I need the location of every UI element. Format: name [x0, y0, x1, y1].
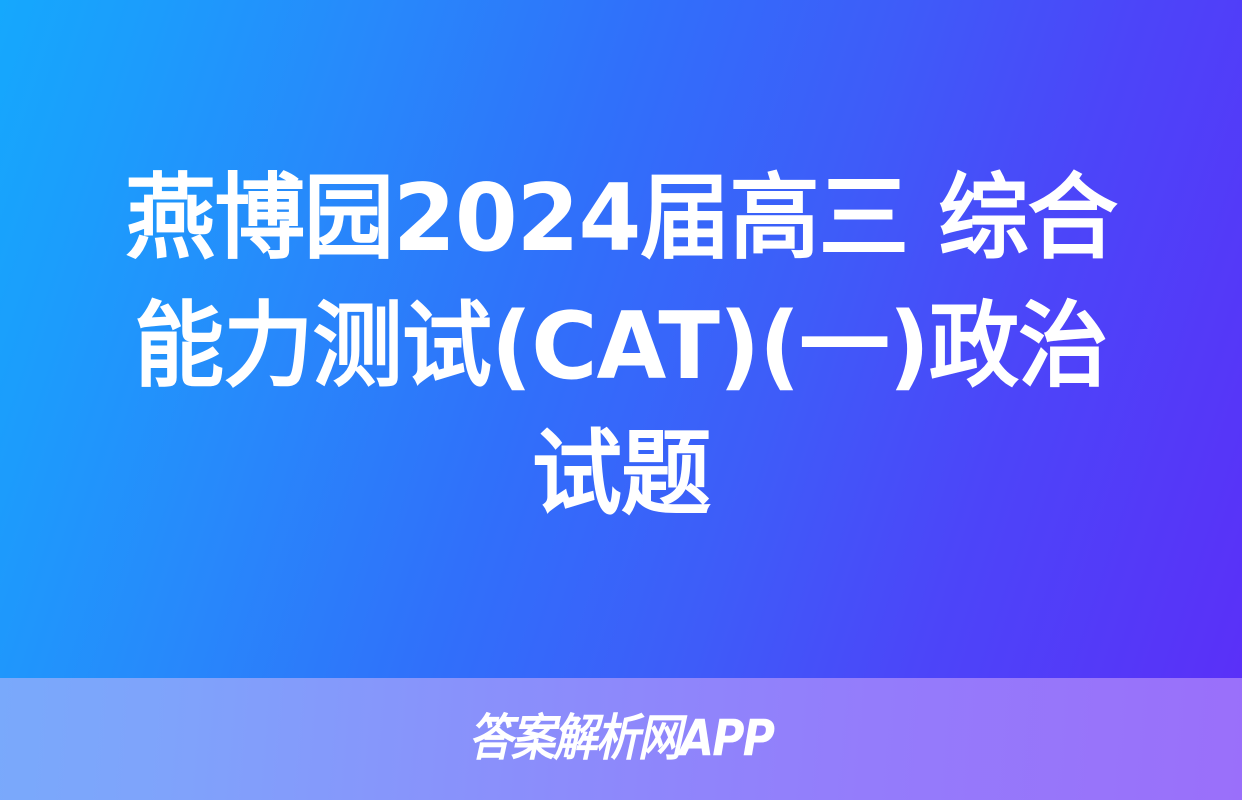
title-line-3: 试题 [532, 410, 710, 538]
footer-brand-band: 答案解析网APP [0, 678, 1242, 800]
page-title: 燕博园2024届高三 综合 能力测试(CAT)(一)政治 试题 [0, 0, 1242, 678]
brand-watermark-label: 答案解析网APP [469, 710, 773, 768]
title-line-1: 燕博园2024届高三 综合 [125, 154, 1117, 282]
exam-cover-banner: 燕博园2024届高三 综合 能力测试(CAT)(一)政治 试题 答案解析网APP [0, 0, 1242, 800]
title-line-2: 能力测试(CAT)(一)政治 [134, 282, 1107, 410]
